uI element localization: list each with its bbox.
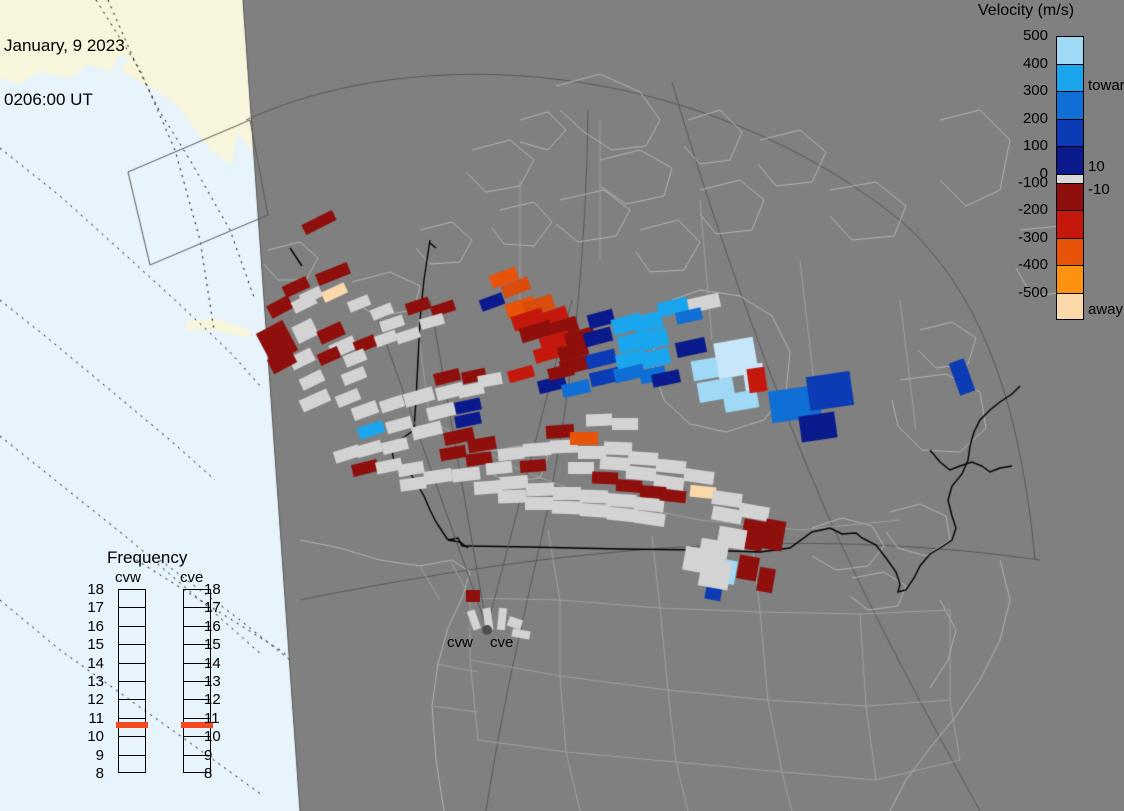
frequency-axis-label-cve-14: 14 <box>204 655 221 672</box>
velocity-band-8 <box>1056 238 1084 266</box>
velocity-tick-minus200: -200 <box>1018 201 1048 218</box>
velocity-band-5 <box>1056 174 1084 183</box>
site-label-cve: cve <box>490 634 513 651</box>
velocity-tick-100: 100 <box>1023 137 1048 154</box>
frequency-axis-label-cve-13: 13 <box>204 673 221 690</box>
map-canvas <box>0 0 1124 811</box>
velocity-band-2 <box>1056 91 1084 119</box>
velocity-label-minus-ten: -10 <box>1088 181 1110 198</box>
frequency-tick-line <box>118 607 146 608</box>
velocity-band-3 <box>1056 119 1084 147</box>
site-label-cvw: cvw <box>447 634 473 651</box>
frequency-axis-label-cvw-12: 12 <box>0 691 104 708</box>
frequency-column-header-cve: cve <box>180 569 203 586</box>
frequency-axis-label-cvw-8: 8 <box>0 765 104 782</box>
velocity-tick-minus300: -300 <box>1018 229 1048 246</box>
frequency-tick-line <box>118 644 146 645</box>
velocity-band-1 <box>1056 64 1084 92</box>
velocity-label-plus-ten: 10 <box>1088 158 1105 175</box>
velocity-tick-300: 300 <box>1023 82 1048 99</box>
velocity-tick-minus400: -400 <box>1018 256 1048 273</box>
frequency-axis-label-cvw-13: 13 <box>0 673 104 690</box>
velocity-tick-minus100: -100 <box>1018 174 1048 191</box>
frequency-axis-label-cve-8: 8 <box>204 765 212 782</box>
frequency-axis-label-cve-17: 17 <box>204 599 221 616</box>
frequency-axis-label-cvw-17: 17 <box>0 599 104 616</box>
frequency-tick-line <box>118 663 146 664</box>
frequency-tick-line <box>118 718 146 719</box>
date-label: January, 9 2023 <box>4 37 125 55</box>
velocity-tick-200: 200 <box>1023 110 1048 127</box>
frequency-legend-title: Frequency <box>107 548 187 568</box>
frequency-tick-line <box>118 736 146 737</box>
velocity-colorbar <box>1056 36 1084 320</box>
frequency-tick-line <box>118 699 146 700</box>
timestamp-block: January, 9 2023 0206:00 UT <box>4 1 125 145</box>
time-label: 0206:00 UT <box>4 91 125 109</box>
frequency-tick-line <box>118 681 146 682</box>
frequency-axis-label-cvw-11: 11 <box>0 710 104 727</box>
frequency-axis-label-cvw-15: 15 <box>0 636 104 653</box>
velocity-band-7 <box>1056 210 1084 238</box>
frequency-axis-label-cve-12: 12 <box>204 691 221 708</box>
velocity-tick-minus500: -500 <box>1018 284 1048 301</box>
velocity-label-away: away <box>1088 301 1123 318</box>
frequency-marker-cvw <box>116 722 148 728</box>
velocity-tick-500: 500 <box>1023 27 1048 44</box>
frequency-axis-label-cve-9: 9 <box>204 747 212 764</box>
velocity-label-toward: toward <box>1088 77 1124 94</box>
frequency-axis-label-cve-18: 18 <box>204 581 221 598</box>
frequency-column-header-cvw: cvw <box>115 569 141 586</box>
frequency-axis-label-cvw-9: 9 <box>0 747 104 764</box>
frequency-axis-label-cve-10: 10 <box>204 728 221 745</box>
frequency-axis-label-cvw-14: 14 <box>0 655 104 672</box>
velocity-tick-400: 400 <box>1023 55 1048 72</box>
frequency-axis-label-cve-11: 11 <box>204 710 220 727</box>
frequency-axis-label-cvw-10: 10 <box>0 728 104 745</box>
frequency-axis-label-cvw-18: 18 <box>0 581 104 598</box>
velocity-legend-title: Velocity (m/s) <box>978 2 1074 20</box>
frequency-axis-label-cve-16: 16 <box>204 618 221 635</box>
velocity-band-10 <box>1056 293 1084 321</box>
frequency-axis-label-cve-15: 15 <box>204 636 221 653</box>
superdarn-fan-plot: January, 9 2023 0206:00 UT Velocity (m/s… <box>0 0 1124 811</box>
frequency-tick-line <box>118 755 146 756</box>
frequency-axis-label-cvw-16: 16 <box>0 618 104 635</box>
velocity-band-6 <box>1056 183 1084 211</box>
velocity-band-4 <box>1056 146 1084 174</box>
frequency-tick-line <box>118 626 146 627</box>
velocity-band-0 <box>1056 36 1084 64</box>
velocity-band-9 <box>1056 265 1084 293</box>
